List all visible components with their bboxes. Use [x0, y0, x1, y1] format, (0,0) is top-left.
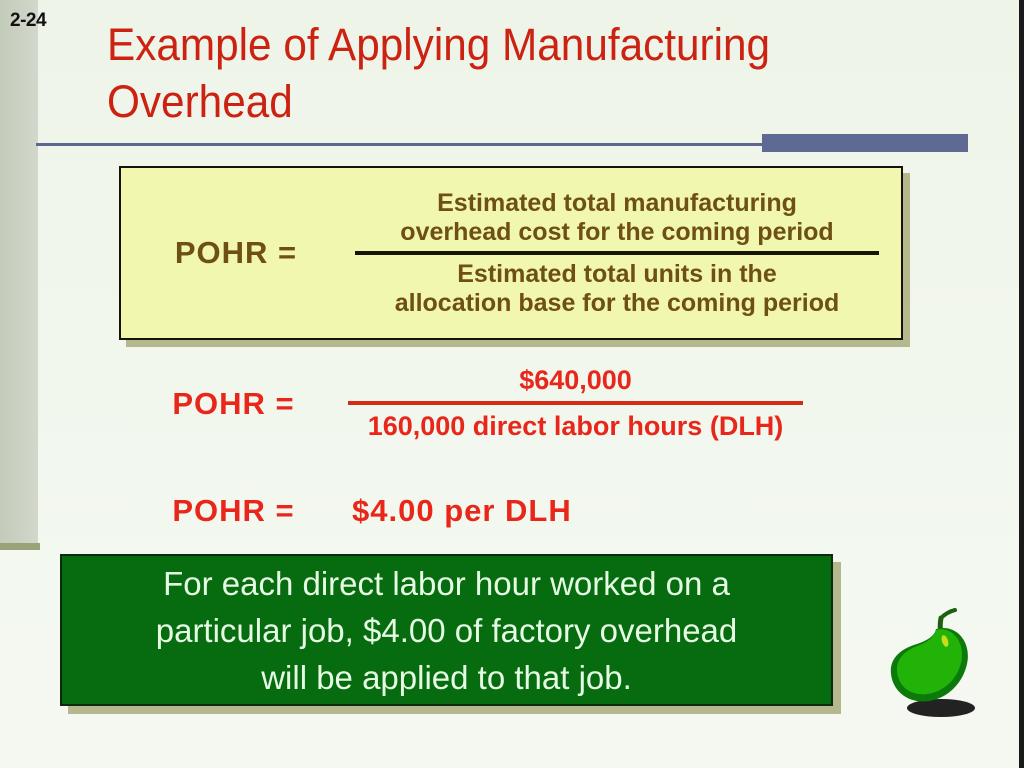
left-sidebar-foot-band — [0, 543, 40, 550]
formula-fraction-bar — [355, 251, 879, 255]
callout-box: For each direct labor hour worked on a p… — [60, 554, 833, 706]
equation-1-numerator: $640,000 — [348, 365, 803, 396]
formula-denominator-line2: allocation base for the coming period — [351, 289, 883, 318]
equation-1-denominator: 160,000 direct labor hours (DLH) — [348, 411, 803, 442]
equation-1-fraction: $640,000 160,000 direct labor hours (DLH… — [348, 365, 803, 442]
callout-text: For each direct labor hour worked on a p… — [156, 560, 738, 701]
slide-canvas: 2-24 Example of Applying Manufacturing O… — [0, 0, 1024, 768]
left-sidebar-band — [0, 0, 38, 543]
equation-result: POHR = $4.00 per DLH — [119, 493, 903, 529]
formula-label: POHR = — [121, 235, 351, 271]
callout-line-2: particular job, $4.00 of factory overhea… — [156, 607, 738, 654]
equation-with-values: POHR = $640,000 160,000 direct labor hou… — [119, 365, 903, 442]
pear-icon — [879, 602, 991, 720]
equation-2-result: $4.00 per DLH — [348, 493, 572, 529]
formula-fraction: Estimated total manufacturing overhead c… — [351, 189, 901, 318]
formula-numerator-line2: overhead cost for the coming period — [351, 218, 883, 247]
callout-line-1: For each direct labor hour worked on a — [156, 560, 738, 607]
equation-1-label: POHR = — [119, 386, 348, 422]
callout-line-3: will be applied to that job. — [156, 654, 738, 701]
formula-definition-box: POHR = Estimated total manufacturing ove… — [119, 166, 903, 340]
slide-number: 2-24 — [10, 10, 46, 32]
formula-numerator-line1: Estimated total manufacturing — [351, 189, 883, 218]
title-accent-block — [762, 134, 968, 152]
page-title: Example of Applying Manufacturing Overhe… — [107, 16, 897, 130]
equation-2-label: POHR = — [119, 493, 348, 529]
equation-1-fraction-bar — [348, 401, 803, 405]
formula-denominator-line1: Estimated total units in the — [351, 260, 883, 289]
